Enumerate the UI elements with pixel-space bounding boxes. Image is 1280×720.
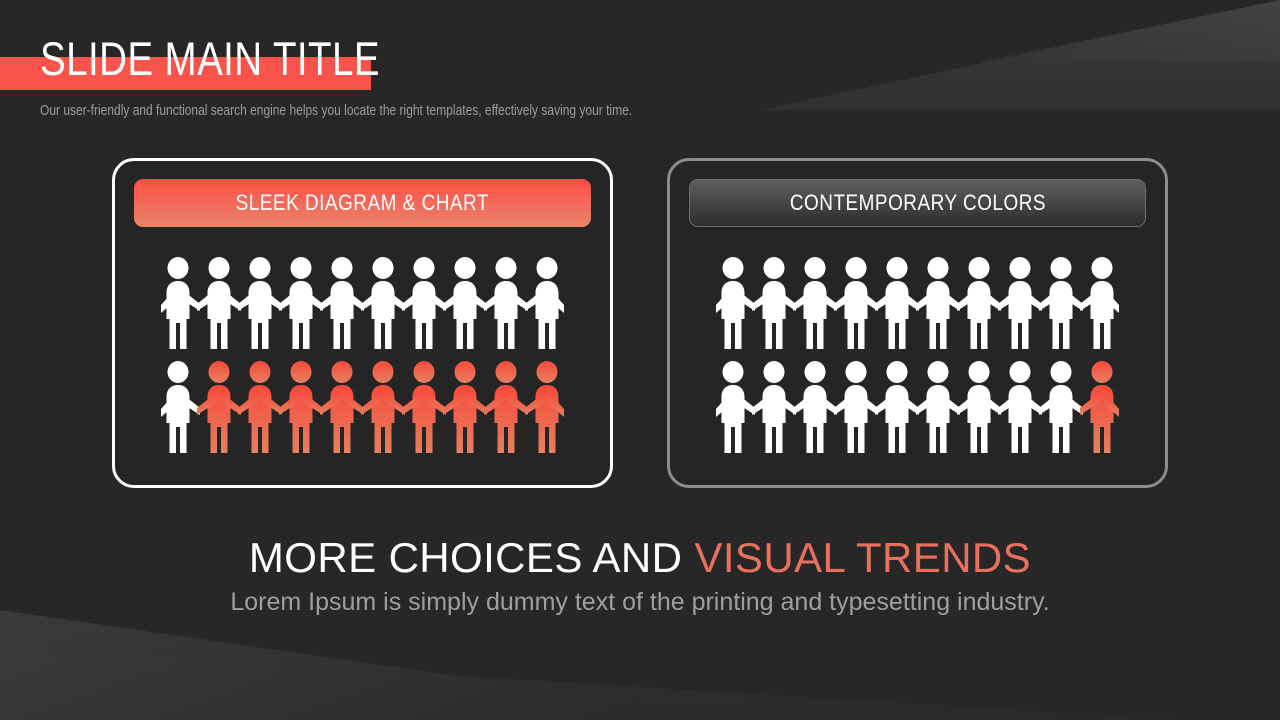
person-figure (1079, 361, 1125, 456)
panel-header-label: CONTEMPORARY COLORS (789, 190, 1045, 216)
pictogram-row (115, 361, 610, 456)
background-diagonal-top-right-2 (980, 0, 1280, 62)
person-figure (196, 257, 242, 352)
person-figure (915, 361, 961, 456)
slide-canvas: SLIDE MAIN TITLE Our user-friendly and f… (0, 0, 1280, 720)
person-figure (401, 361, 447, 456)
panel-sleek-diagram-chart[interactable]: SLEEK DIAGRAM & CHART (112, 158, 613, 488)
background-diagonal-bottom-left-2 (0, 634, 1180, 720)
person-figure (278, 361, 324, 456)
person-figure (997, 257, 1043, 352)
person-figure (833, 257, 879, 352)
person-figure (319, 361, 365, 456)
person-figure (237, 361, 283, 456)
footer-headline-accent: VISUAL TRENDS (694, 534, 1031, 581)
person-figure (155, 361, 201, 456)
person-figure (751, 361, 797, 456)
person-figure (360, 361, 406, 456)
person-figure (874, 361, 920, 456)
person-figure (874, 257, 920, 352)
person-figure (710, 361, 756, 456)
footer-subtitle: Lorem Ipsum is simply dummy text of the … (0, 586, 1280, 618)
footer-headline-plain: MORE CHOICES AND (249, 534, 695, 581)
panel-header-label: SLEEK DIAGRAM & CHART (236, 190, 489, 216)
person-figure (1079, 257, 1125, 352)
person-figure (442, 257, 488, 352)
person-figure (524, 361, 570, 456)
person-figure (1038, 257, 1084, 352)
pictogram-right (670, 257, 1165, 456)
person-figure (155, 257, 201, 352)
person-figure (710, 257, 756, 352)
page-title: SLIDE MAIN TITLE (40, 33, 380, 85)
pictogram-row (670, 257, 1165, 352)
person-figure (278, 257, 324, 352)
person-figure (1038, 361, 1084, 456)
pictogram-left (115, 257, 610, 456)
pictogram-row (670, 361, 1165, 456)
person-figure (956, 257, 1002, 352)
background-diagonal-top-right (760, 0, 1280, 110)
person-figure (196, 361, 242, 456)
person-figure (319, 257, 365, 352)
panel-contemporary-colors[interactable]: CONTEMPORARY COLORS (667, 158, 1168, 488)
page-subtitle: Our user-friendly and functional search … (40, 101, 632, 121)
person-figure (792, 361, 838, 456)
person-figure (483, 361, 529, 456)
person-figure (833, 361, 879, 456)
footer-headline: MORE CHOICES AND VISUAL TRENDS (0, 533, 1280, 583)
person-figure (997, 361, 1043, 456)
person-figure (401, 257, 447, 352)
person-figure (483, 257, 529, 352)
person-figure (360, 257, 406, 352)
person-figure (956, 361, 1002, 456)
person-figure (442, 361, 488, 456)
footer-block: MORE CHOICES AND VISUAL TRENDS Lorem Ips… (0, 533, 1280, 618)
person-figure (237, 257, 283, 352)
pictogram-row (115, 257, 610, 352)
person-figure (524, 257, 570, 352)
panel-header-contemporary-colors[interactable]: CONTEMPORARY COLORS (689, 179, 1146, 227)
panel-header-sleek-diagram-chart[interactable]: SLEEK DIAGRAM & CHART (134, 179, 591, 227)
background-diagonal-bottom-left (0, 610, 760, 720)
person-figure (751, 257, 797, 352)
person-figure (792, 257, 838, 352)
person-figure (915, 257, 961, 352)
